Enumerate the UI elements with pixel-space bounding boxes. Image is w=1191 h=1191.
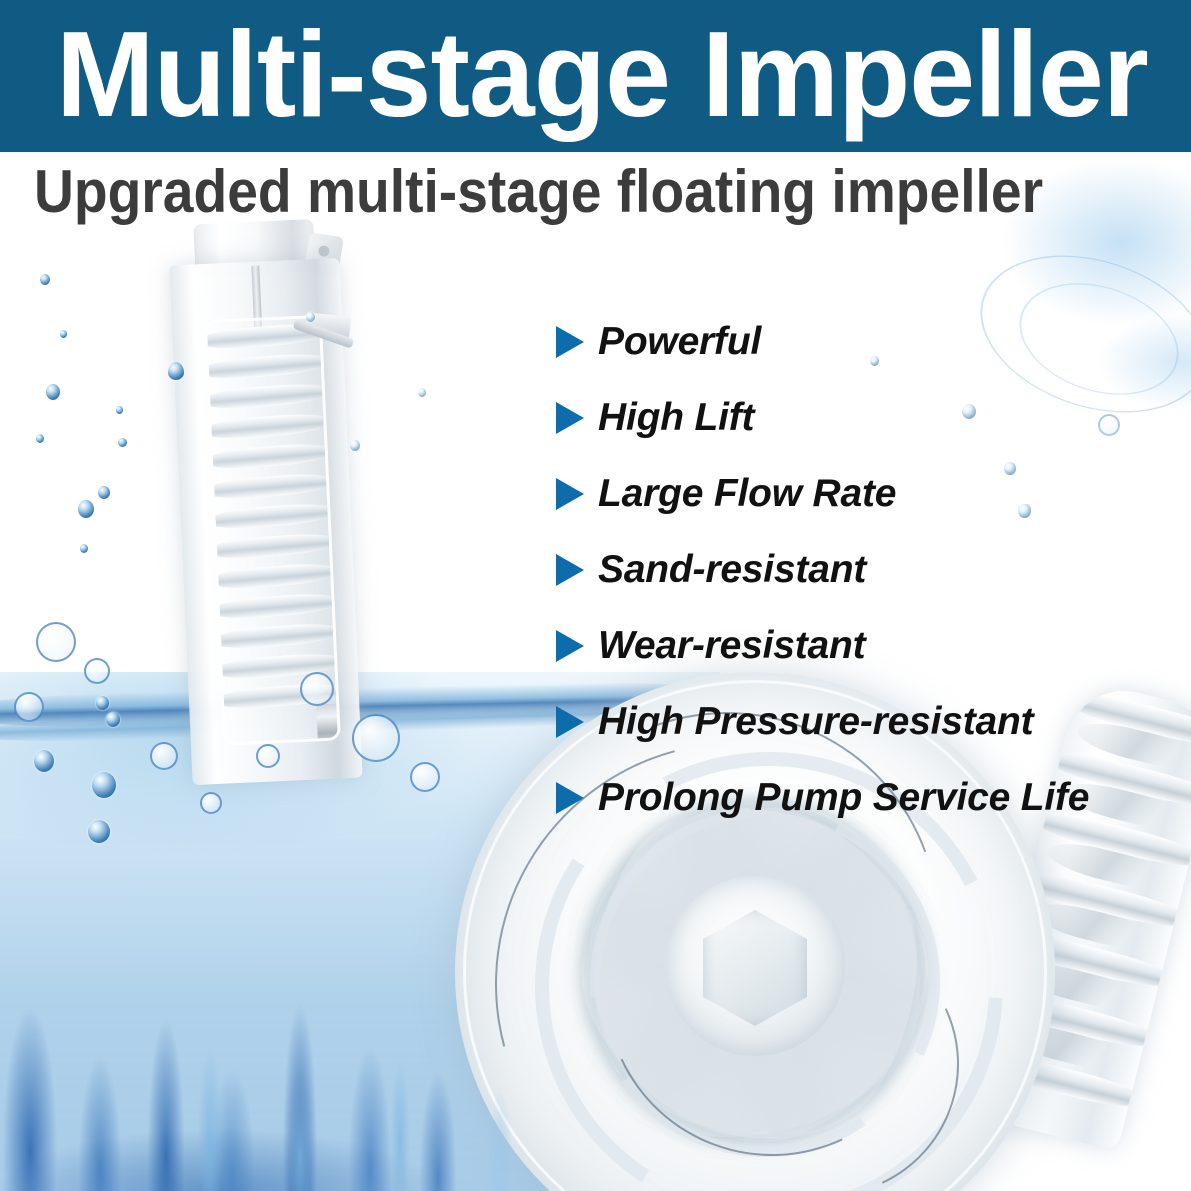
water-droplet [418, 388, 426, 397]
feature-item: Prolong Pump Service Life [556, 760, 1176, 836]
water-bubble [352, 714, 400, 762]
impeller-stage [211, 621, 341, 652]
impeller-stage [205, 501, 338, 532]
submersible-pump-body [137, 218, 372, 787]
water-bubble [14, 692, 44, 722]
triangle-bullet-icon [556, 478, 584, 510]
triangle-bullet-icon [556, 782, 584, 814]
water-bubble [200, 792, 222, 814]
impeller-stage [204, 381, 333, 412]
water-droplet [106, 712, 120, 727]
water-droplet [80, 544, 88, 553]
water-bubble [410, 762, 440, 792]
water-droplet [168, 362, 184, 380]
triangle-bullet-icon [556, 402, 584, 434]
header-banner: Multi-stage Impeller [0, 0, 1191, 152]
impeller-stage [204, 441, 336, 472]
impeller-stage [208, 561, 341, 592]
feature-label: Large Flow Rate [598, 472, 896, 516]
water-droplet [92, 772, 116, 798]
water-droplet [60, 330, 67, 338]
water-bubble [36, 622, 76, 662]
impeller-stage [204, 471, 337, 502]
impeller-stage [204, 351, 332, 382]
subtitle: Upgraded multi-stage floating impeller [34, 156, 1043, 228]
water-bubble [84, 658, 110, 684]
water-droplet [118, 438, 127, 447]
feature-label: Wear-resistant [598, 624, 865, 668]
feature-label: High Pressure-resistant [598, 700, 1033, 744]
triangle-bullet-icon [556, 706, 584, 738]
product-feature-poster: Multi-stage Impeller Upgraded multi-stag… [0, 0, 1191, 1191]
feature-item: High Lift [556, 380, 1176, 456]
water-droplet [34, 750, 54, 772]
feature-item: Large Flow Rate [556, 456, 1176, 532]
feature-list: Powerful High Lift Large Flow Rate Sand-… [556, 304, 1176, 836]
water-bubble [300, 672, 334, 706]
impeller-stage [209, 591, 341, 622]
water-droplet [116, 406, 123, 414]
water-bubble [256, 744, 280, 768]
feature-label: High Lift [598, 396, 754, 440]
triangle-bullet-icon [556, 326, 584, 358]
feature-label: Powerful [598, 320, 761, 364]
water-droplet [88, 820, 110, 843]
water-droplet [36, 434, 44, 443]
feature-item: Sand-resistant [556, 532, 1176, 608]
water-droplet [78, 500, 94, 518]
water-droplet [40, 274, 50, 285]
impeller-stage [206, 531, 339, 562]
page-title: Multi-stage Impeller [56, 0, 1148, 150]
water-droplet [306, 312, 315, 322]
water-droplet [96, 696, 109, 710]
triangle-bullet-icon [556, 554, 584, 586]
water-bubble [150, 742, 178, 770]
water-droplet [98, 486, 110, 499]
feature-item: High Pressure-resistant [556, 684, 1176, 760]
feature-label: Sand-resistant [598, 548, 866, 592]
water-droplet [350, 440, 360, 451]
water-droplet [46, 384, 60, 400]
impeller-stage [204, 411, 334, 442]
water-splash-secondary [150, 881, 670, 1191]
feature-item: Powerful [556, 304, 1176, 380]
feature-item: Wear-resistant [556, 608, 1176, 684]
triangle-bullet-icon [556, 630, 584, 662]
feature-label: Prolong Pump Service Life [598, 776, 1089, 820]
